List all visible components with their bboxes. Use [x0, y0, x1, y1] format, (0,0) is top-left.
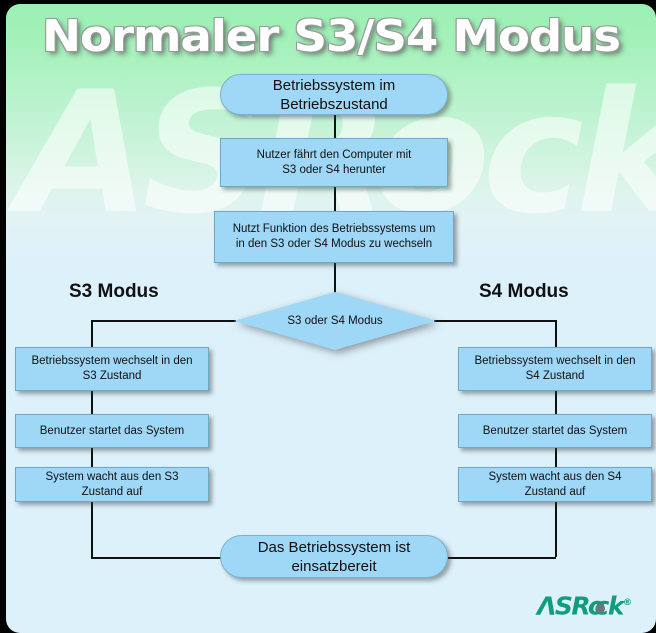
decision-diamond: S3 oder S4 Modus: [234, 292, 436, 350]
node-s3-wake-label: System wacht aus den S3Zustand auf: [20, 470, 204, 500]
node-os-function-label: Nutzt Funktion des Betriebssystems umin …: [219, 222, 449, 252]
logo-dot-icon: [596, 604, 605, 613]
connector-step1-to-step2: [334, 186, 336, 211]
node-s3-enter[interactable]: Betriebssystem wechselt in denS3 Zustand: [15, 347, 209, 391]
node-s3-enter-label: Betriebssystem wechselt in denS3 Zustand: [20, 354, 204, 384]
node-s4-enter-label: Betriebssystem wechselt in denS4 Zustand: [463, 354, 647, 384]
node-decision[interactable]: S3 oder S4 Modus: [234, 292, 436, 350]
node-s3-wake[interactable]: System wacht aus den S3Zustand auf: [15, 467, 209, 502]
connector-right-to-end: [448, 557, 556, 559]
node-s3-user-start[interactable]: Benutzer startet das System: [15, 414, 209, 448]
connector-left-down-2: [91, 390, 93, 415]
node-start-label: Betriebssystem imBetriebszustand: [225, 76, 443, 114]
node-s4-wake[interactable]: System wacht aus den S4Zustand auf: [458, 467, 652, 502]
page-title: Normaler S3/S4 Modus: [6, 12, 656, 62]
node-shutdown[interactable]: Nutzer fährt den Computer mitS3 oder S4 …: [220, 138, 448, 187]
node-end[interactable]: Das Betriebssystem isteinsatzbereit: [220, 535, 448, 578]
node-s4-enter[interactable]: Betriebssystem wechselt in denS4 Zustand: [458, 347, 652, 391]
connector-left-down-1: [91, 320, 93, 348]
diagram-canvas: ASRock® Normaler S3/S4 Modus Betriebssys…: [6, 4, 656, 633]
node-s4-wake-label: System wacht aus den S4Zustand auf: [463, 470, 647, 500]
connector-right-down-2: [555, 390, 557, 415]
branch-heading-s4: S4 Modus: [479, 281, 569, 303]
connector-decision-left: [91, 320, 236, 322]
connector-right-down-4: [555, 501, 557, 557]
connector-start-to-step1: [334, 114, 336, 139]
connector-right-down-1: [555, 320, 557, 348]
connector-left-down-4: [91, 501, 93, 557]
branch-heading-s3: S3 Modus: [69, 281, 159, 303]
node-shutdown-label: Nutzer fährt den Computer mitS3 oder S4 …: [225, 148, 443, 178]
node-s3-user-start-label: Benutzer startet das System: [20, 424, 204, 439]
logo-registered-icon: ®: [623, 598, 632, 608]
node-start[interactable]: Betriebssystem imBetriebszustand: [220, 74, 448, 115]
connector-left-down-3: [91, 447, 93, 468]
connector-step2-to-decision: [334, 262, 336, 294]
logo-text-before: ΛSR: [537, 591, 588, 620]
node-s4-user-start[interactable]: Benutzer startet das System: [458, 414, 652, 448]
asrock-logo: ΛSRock®: [537, 590, 641, 616]
node-s4-user-start-label: Benutzer startet das System: [463, 424, 647, 439]
connector-decision-right: [434, 320, 556, 322]
connector-right-down-3: [555, 447, 557, 468]
node-end-label: Das Betriebssystem isteinsatzbereit: [225, 538, 443, 576]
connector-left-to-end: [91, 557, 221, 559]
diagram-frame: ASRock® Normaler S3/S4 Modus Betriebssys…: [0, 0, 656, 633]
node-os-function[interactable]: Nutzt Funktion des Betriebssystems umin …: [214, 211, 454, 263]
node-decision-label: S3 oder S4 Modus: [287, 314, 382, 328]
